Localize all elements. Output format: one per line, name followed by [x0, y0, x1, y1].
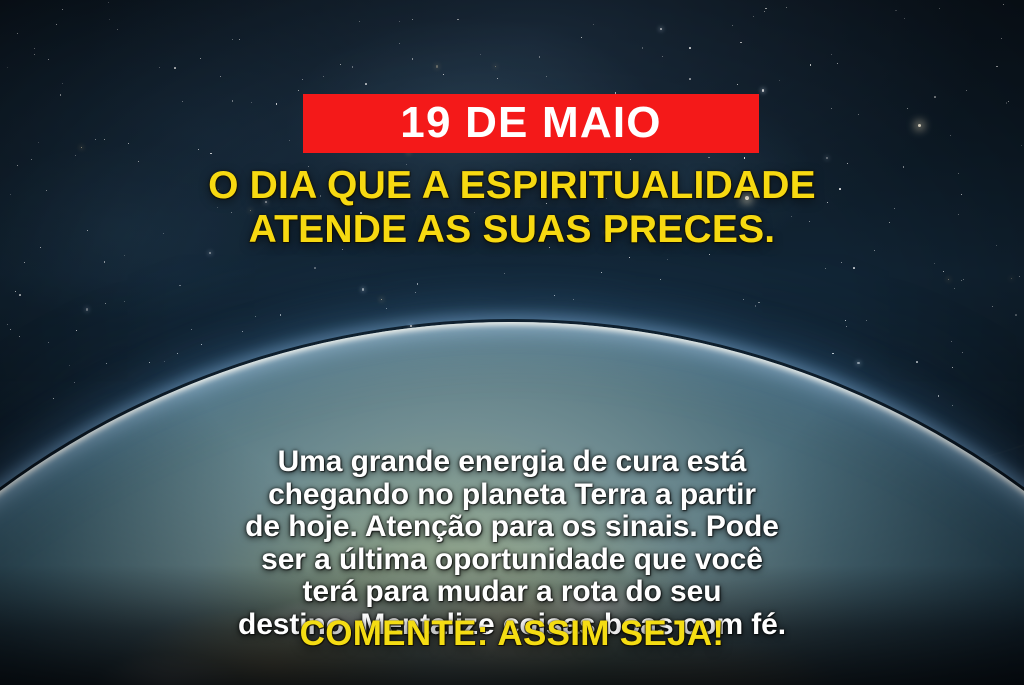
headline-line-2: ATENDE AS SUAS PRECES. [40, 208, 984, 252]
poster-canvas: 19 DE MAIO O DIA QUE A ESPIRITUALIDADE A… [0, 0, 1024, 685]
body-line-5: terá para mudar a rota do seu [52, 576, 972, 609]
date-banner-text: 19 DE MAIO [400, 101, 661, 145]
body-line-3: de hoje. Atenção para os sinais. Pode [52, 511, 972, 544]
body-paragraph: Uma grande energia de cura está chegando… [0, 446, 1024, 641]
call-to-action: COMENTE: ASSIM SEJA! [0, 615, 1024, 654]
date-banner: 19 DE MAIO [303, 94, 759, 153]
body-line-1: Uma grande energia de cura está [52, 446, 972, 479]
body-line-2: chegando no planeta Terra a partir [52, 479, 972, 512]
cta-text: COMENTE: ASSIM SEJA! [300, 614, 725, 653]
poster-content: 19 DE MAIO O DIA QUE A ESPIRITUALIDADE A… [0, 0, 1024, 685]
headline: O DIA QUE A ESPIRITUALIDADE ATENDE AS SU… [0, 164, 1024, 252]
body-line-4: ser a última oportunidade que você [52, 544, 972, 577]
headline-line-1: O DIA QUE A ESPIRITUALIDADE [40, 164, 984, 208]
